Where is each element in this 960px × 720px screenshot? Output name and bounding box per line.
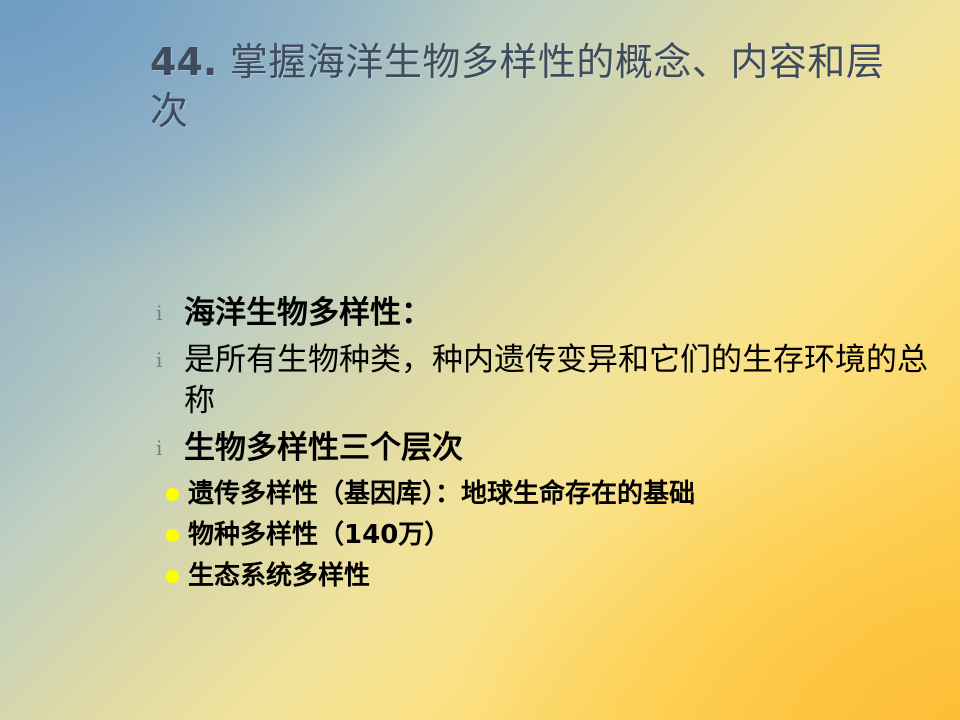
bullet-text-1: 海洋生物多样性： <box>184 293 940 334</box>
bullet-item-2: i 是所有生物种类，种内遗传变异和它们的生存环境的总称 <box>150 340 940 422</box>
sub-bullet-text-2: 物种多样性（140万） <box>188 516 940 554</box>
bullet-item-1: i 海洋生物多样性： <box>150 293 940 334</box>
slide-body: i 海洋生物多样性： i 是所有生物种类，种内遗传变异和它们的生存环境的总称 i… <box>150 293 940 595</box>
bullet-marker-icon: i <box>150 428 184 468</box>
sub-bullet-item-1: 遗传多样性（基因库）：地球生命存在的基础 <box>150 475 940 513</box>
sub-bullet-item-3: 生态系统多样性 <box>150 557 940 595</box>
sub-bullet-text-2-post: 万） <box>398 520 450 550</box>
sub-bullet-text-2-number: 140 <box>344 520 398 550</box>
bullet-item-3: i 生物多样性三个层次 <box>150 428 940 469</box>
presentation-slide: 44. 掌握海洋生物多样性的概念、内容和层次 i 海洋生物多样性： i 是所有生… <box>0 0 960 720</box>
sub-bullet-dot-icon <box>150 557 188 595</box>
bullet-text-3: 生物多样性三个层次 <box>184 428 940 469</box>
slide-title: 44. 掌握海洋生物多样性的概念、内容和层次 <box>150 38 890 135</box>
slide-title-number: 44. <box>150 40 217 84</box>
sub-bullet-dot-icon <box>150 516 188 554</box>
sub-bullet-item-2: 物种多样性（140万） <box>150 516 940 554</box>
sub-bullet-list: 遗传多样性（基因库）：地球生命存在的基础 物种多样性（140万） 生态系统多样性 <box>150 475 940 595</box>
bullet-text-2: 是所有生物种类，种内遗传变异和它们的生存环境的总称 <box>184 340 940 422</box>
sub-bullet-text-3: 生态系统多样性 <box>188 557 940 595</box>
sub-bullet-text-1: 遗传多样性（基因库）：地球生命存在的基础 <box>188 475 940 513</box>
sub-bullet-text-2-pre: 物种多样性（ <box>188 520 344 550</box>
slide-title-text: 掌握海洋生物多样性的概念、内容和层次 <box>150 40 884 133</box>
sub-bullet-dot-icon <box>150 475 188 513</box>
bullet-marker-icon: i <box>150 340 184 380</box>
bullet-marker-icon: i <box>150 293 184 333</box>
